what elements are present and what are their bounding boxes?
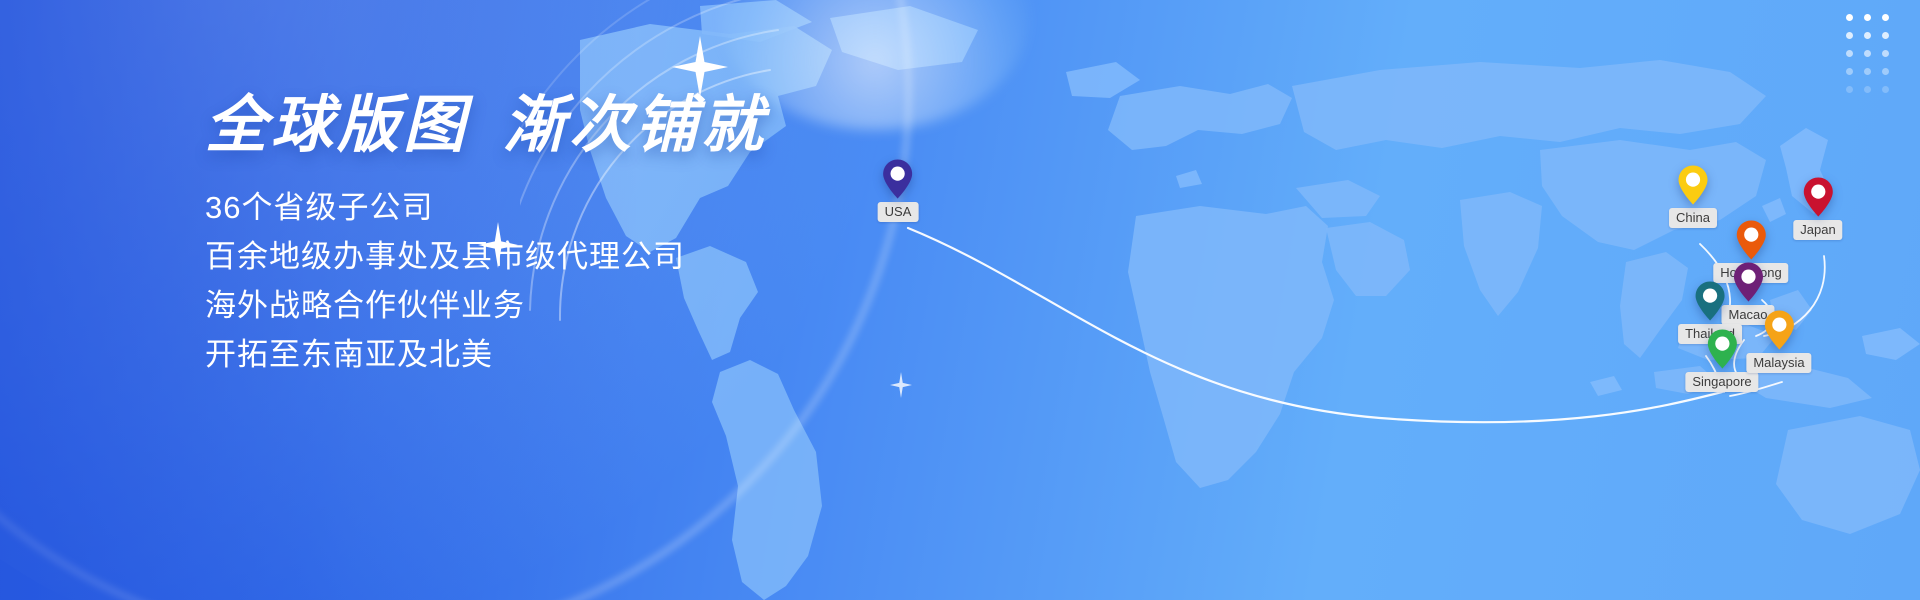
map-pin-china[interactable]: China [1669,165,1717,228]
map-pin-label: USA [878,202,919,222]
location-pin-icon [1803,177,1833,217]
map-pin-label: Singapore [1685,372,1758,392]
map-pin-usa[interactable]: USA [878,159,919,222]
list-item: 36个省级子公司 [205,183,965,232]
list-item: 开拓至东南亚及北美 [205,330,965,379]
map-pin-label: China [1669,208,1717,228]
list-item: 百余地级办事处及县市级代理公司 [205,232,965,281]
list-item: 海外战略合作伙伴业务 [205,281,965,330]
location-pin-icon [1736,220,1766,260]
map-pin-japan[interactable]: Japan [1793,177,1842,240]
location-pin-icon [883,159,913,199]
location-pin-icon [1707,329,1737,369]
headline-part-2: 渐次铺就 [503,91,767,160]
dot-grid-decoration [1840,8,1894,98]
map-pin-label: Japan [1793,220,1842,240]
page-title: 全球版图渐次铺就 [205,95,965,157]
location-pin-icon [1695,281,1725,321]
location-pin-icon [1764,310,1794,350]
map-pin-label: Malaysia [1746,353,1811,373]
global-map-banner: 全球版图渐次铺就 36个省级子公司 百余地级办事处及县市级代理公司 海外战略合作… [0,0,1920,600]
banner-copy: 全球版图渐次铺就 36个省级子公司 百余地级办事处及县市级代理公司 海外战略合作… [205,95,965,379]
map-pin-malaysia[interactable]: Malaysia [1746,310,1811,373]
banner-bullet-list: 36个省级子公司 百余地级办事处及县市级代理公司 海外战略合作伙伴业务 开拓至东… [205,183,965,379]
headline-part-1: 全球版图 [205,91,469,160]
location-pin-icon [1678,165,1708,205]
